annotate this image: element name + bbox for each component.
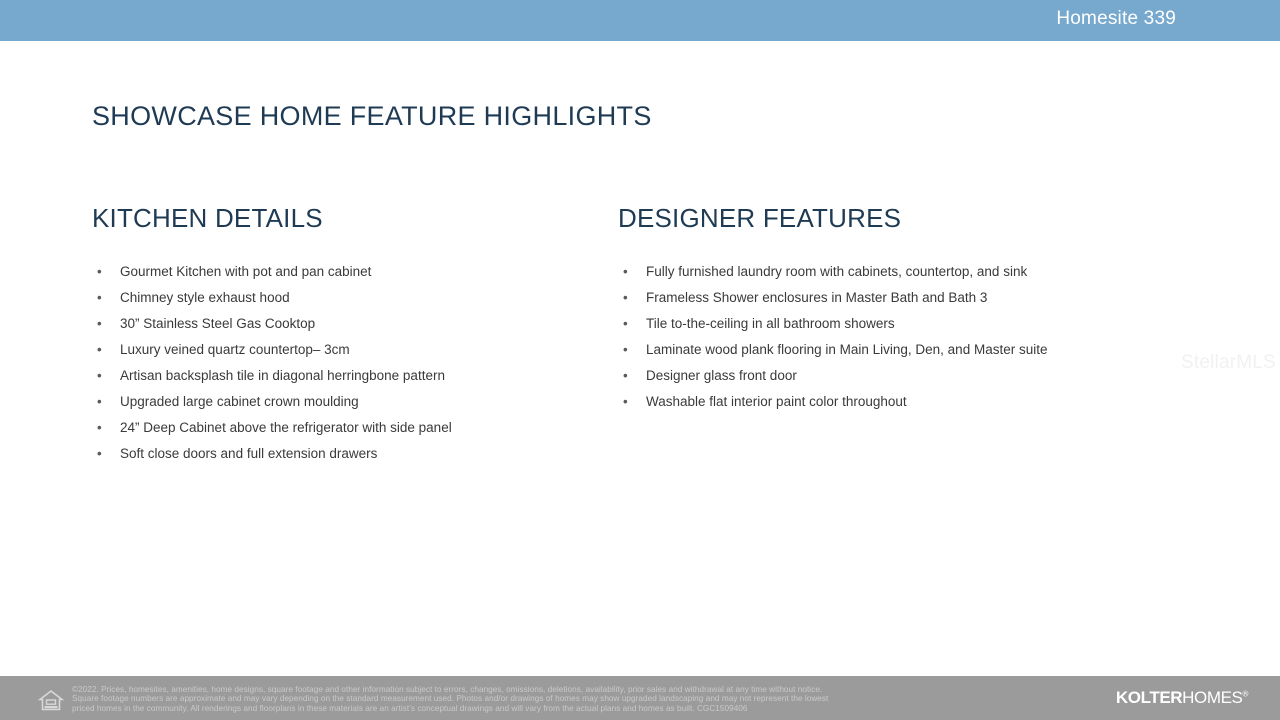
list-item: • Washable flat interior paint color thr… bbox=[618, 394, 1178, 410]
footer-legal-line: Square footage numbers are approximate a… bbox=[72, 694, 1082, 703]
kitchen-details-heading: KITCHEN DETAILS bbox=[92, 203, 592, 234]
bullet-icon: • bbox=[623, 264, 628, 280]
bullet-icon: • bbox=[97, 264, 102, 280]
list-item-label: Fully furnished laundry room with cabine… bbox=[646, 264, 1027, 279]
list-item: • Designer glass front door bbox=[618, 368, 1178, 384]
bullet-icon: • bbox=[97, 420, 102, 436]
designer-features-heading: DESIGNER FEATURES bbox=[618, 203, 1178, 234]
list-item-label: Designer glass front door bbox=[646, 368, 797, 383]
list-item-label: Upgraded large cabinet crown moulding bbox=[120, 394, 359, 409]
list-item: • Upgraded large cabinet crown moulding bbox=[92, 394, 592, 410]
logo-trademark-icon: ® bbox=[1243, 689, 1249, 698]
list-item-label: Artisan backsplash tile in diagonal herr… bbox=[120, 368, 445, 383]
list-item-label: Gourmet Kitchen with pot and pan cabinet bbox=[120, 264, 371, 279]
list-item-label: 24” Deep Cabinet above the refrigerator … bbox=[120, 420, 452, 435]
bullet-icon: • bbox=[97, 446, 102, 462]
list-item-label: 30” Stainless Steel Gas Cooktop bbox=[120, 316, 315, 331]
bullet-icon: • bbox=[97, 342, 102, 358]
stellar-mls-watermark: StellarMLS bbox=[1181, 352, 1276, 374]
logo-homes-text: HOMES bbox=[1182, 688, 1242, 707]
bullet-icon: • bbox=[623, 394, 628, 410]
designer-features-column: DESIGNER FEATURES • Fully furnished laun… bbox=[618, 203, 1178, 420]
designer-features-list: • Fully furnished laundry room with cabi… bbox=[618, 264, 1178, 410]
bullet-icon: • bbox=[97, 394, 102, 410]
list-item-label: Tile to-the-ceiling in all bathroom show… bbox=[646, 316, 895, 331]
header-bar: Homesite 339 bbox=[0, 0, 1280, 41]
list-item-label: Laminate wood plank flooring in Main Liv… bbox=[646, 342, 1047, 357]
list-item: • Frameless Shower enclosures in Master … bbox=[618, 290, 1178, 306]
kitchen-details-list: • Gourmet Kitchen with pot and pan cabin… bbox=[92, 264, 592, 462]
list-item: • Gourmet Kitchen with pot and pan cabin… bbox=[92, 264, 592, 280]
logo-kolter-text: KOLTER bbox=[1116, 688, 1182, 707]
bullet-icon: • bbox=[97, 290, 102, 306]
list-item: • Fully furnished laundry room with cabi… bbox=[618, 264, 1178, 280]
list-item: • Soft close doors and full extension dr… bbox=[92, 446, 592, 462]
bullet-icon: • bbox=[97, 368, 102, 384]
list-item: • Tile to-the-ceiling in all bathroom sh… bbox=[618, 316, 1178, 332]
bullet-icon: • bbox=[97, 316, 102, 332]
list-item: • Laminate wood plank flooring in Main L… bbox=[618, 342, 1178, 358]
list-item: • 30” Stainless Steel Gas Cooktop bbox=[92, 316, 592, 332]
bullet-icon: • bbox=[623, 368, 628, 384]
footer-legal-text: ©2022. Prices, homesites, amenities, hom… bbox=[72, 685, 1082, 713]
footer-legal-line: ©2022. Prices, homesites, amenities, hom… bbox=[72, 685, 1082, 694]
list-item: • Chimney style exhaust hood bbox=[92, 290, 592, 306]
kitchen-details-column: KITCHEN DETAILS • Gourmet Kitchen with p… bbox=[92, 203, 592, 472]
list-item-label: Luxury veined quartz countertop– 3cm bbox=[120, 342, 350, 357]
list-item: • Luxury veined quartz countertop– 3cm bbox=[92, 342, 592, 358]
page-title: SHOWCASE HOME FEATURE HIGHLIGHTS bbox=[92, 101, 652, 132]
list-item-label: Chimney style exhaust hood bbox=[120, 290, 290, 305]
list-item-label: Soft close doors and full extension draw… bbox=[120, 446, 377, 461]
bullet-icon: • bbox=[623, 316, 628, 332]
bullet-icon: • bbox=[623, 290, 628, 306]
kolter-homes-logo: KOLTERHOMES® bbox=[1116, 688, 1248, 708]
list-item: • Artisan backsplash tile in diagonal he… bbox=[92, 368, 592, 384]
homesite-title: Homesite 339 bbox=[1056, 8, 1176, 30]
bullet-icon: • bbox=[623, 342, 628, 358]
equal-housing-opportunity-icon bbox=[38, 688, 64, 713]
list-item-label: Washable flat interior paint color throu… bbox=[646, 394, 907, 409]
list-item-label: Frameless Shower enclosures in Master Ba… bbox=[646, 290, 987, 305]
list-item: • 24” Deep Cabinet above the refrigerato… bbox=[92, 420, 592, 436]
footer-legal-line: priced homes in the community. All rende… bbox=[72, 704, 1082, 713]
